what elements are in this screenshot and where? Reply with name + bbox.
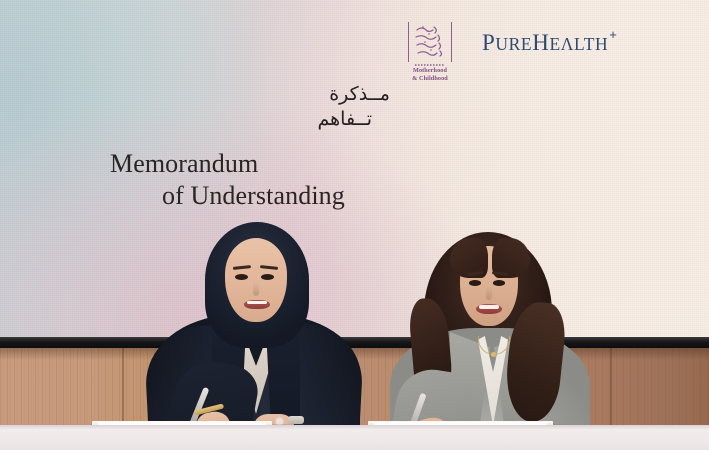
headline-arabic-line1: مــذكرة <box>110 82 390 107</box>
left-person-teeth <box>247 301 267 304</box>
right-person-nose <box>486 287 492 300</box>
motherhood-label-line1: Motherhood <box>404 67 456 75</box>
logo-divider <box>415 64 445 66</box>
headline-english-line1: Memorandum <box>110 149 258 178</box>
headline-english-line2: of Understanding <box>110 180 390 212</box>
wood-panel-seam <box>610 348 612 428</box>
wood-panel-seam <box>122 348 124 428</box>
left-person-eye-right <box>261 274 274 280</box>
purehealth-plus-icon: + <box>609 27 617 42</box>
logo-row: Motherhood & Childhood PURΕHΕΛLTH+ <box>404 22 634 90</box>
left-person-eye-left <box>235 274 248 280</box>
headline-arabic-line2: تــفاهم <box>110 107 390 132</box>
signatory-right <box>390 232 590 432</box>
signing-desk <box>0 425 709 450</box>
arabic-calligraphy-mark-icon <box>408 22 452 62</box>
right-person-eye-left <box>469 280 481 286</box>
left-person-watch <box>288 416 304 424</box>
right-person-pendant <box>491 352 496 357</box>
motherhood-childhood-logo: Motherhood & Childhood <box>404 22 456 82</box>
desk-edge <box>0 425 709 429</box>
right-person-teeth <box>479 305 499 309</box>
motherhood-label-line2: & Childhood <box>404 75 456 83</box>
left-person-nose <box>253 282 259 296</box>
signatory-left <box>150 222 360 432</box>
purehealth-wordmark: PURΕHΕΛLTH <box>482 30 608 58</box>
left-person-face <box>225 238 287 322</box>
headline-english: Memorandum of Understanding <box>110 148 390 212</box>
mou-signing-photo: Motherhood & Childhood PURΕHΕΛLTH+ مــذك… <box>0 0 709 450</box>
purehealth-logo: PURΕHΕΛLTH+ <box>482 30 616 57</box>
right-person-eye-right <box>493 280 505 286</box>
headline-block: مــذكرة تــفاهم Memorandum of Understand… <box>110 82 390 212</box>
